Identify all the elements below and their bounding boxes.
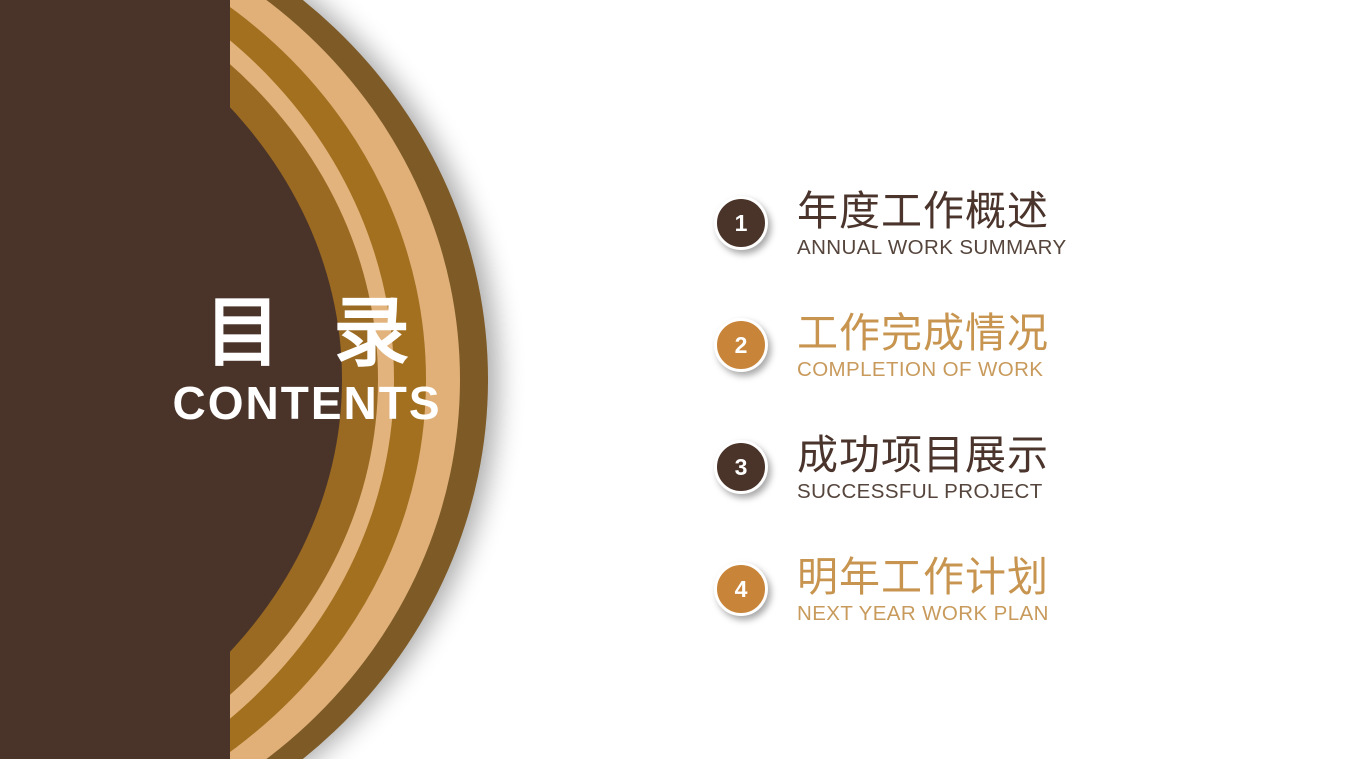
toc-number-3: 3 <box>735 454 748 481</box>
toc-title-cn-3: 成功项目展示 <box>797 434 1049 477</box>
toc-text-3: 成功项目展示 SUCCESSFUL PROJECT <box>797 434 1049 505</box>
toc-item-1[interactable]: 1 年度工作概述 ANNUAL WORK SUMMARY <box>714 190 1274 312</box>
toc-number-4: 4 <box>735 576 748 603</box>
table-of-contents-list: 1 年度工作概述 ANNUAL WORK SUMMARY 2 工作完成情况 CO… <box>714 190 1274 678</box>
toc-item-3[interactable]: 3 成功项目展示 SUCCESSFUL PROJECT <box>714 434 1274 556</box>
toc-badge-3[interactable]: 3 <box>714 440 768 494</box>
toc-title-cn-4: 明年工作计划 <box>797 556 1049 599</box>
toc-title-cn-1: 年度工作概述 <box>797 190 1067 233</box>
toc-title-en-3: SUCCESSFUL PROJECT <box>797 480 1049 505</box>
toc-badge-4[interactable]: 4 <box>714 562 768 616</box>
toc-text-1: 年度工作概述 ANNUAL WORK SUMMARY <box>797 190 1067 261</box>
toc-text-4: 明年工作计划 NEXT YEAR WORK PLAN <box>797 556 1049 627</box>
toc-title-cn-2: 工作完成情况 <box>797 312 1049 355</box>
page-title-en: CONTENTS <box>92 380 522 426</box>
slide-title-block: 目 录 CONTENTS <box>92 296 522 426</box>
toc-badge-2[interactable]: 2 <box>714 318 768 372</box>
page-title-cn: 目 录 <box>92 296 522 372</box>
toc-title-en-4: NEXT YEAR WORK PLAN <box>797 602 1049 627</box>
slide-canvas: 目 录 CONTENTS 1 年度工作概述 ANNUAL WORK SUMMAR… <box>0 0 1350 759</box>
toc-title-en-2: COMPLETION OF WORK <box>797 358 1049 383</box>
toc-item-2[interactable]: 2 工作完成情况 COMPLETION OF WORK <box>714 312 1274 434</box>
toc-text-2: 工作完成情况 COMPLETION OF WORK <box>797 312 1049 383</box>
toc-badge-1[interactable]: 1 <box>714 196 768 250</box>
toc-number-1: 1 <box>735 210 748 237</box>
toc-title-en-1: ANNUAL WORK SUMMARY <box>797 236 1067 261</box>
toc-number-2: 2 <box>735 332 748 359</box>
toc-item-4[interactable]: 4 明年工作计划 NEXT YEAR WORK PLAN <box>714 556 1274 678</box>
